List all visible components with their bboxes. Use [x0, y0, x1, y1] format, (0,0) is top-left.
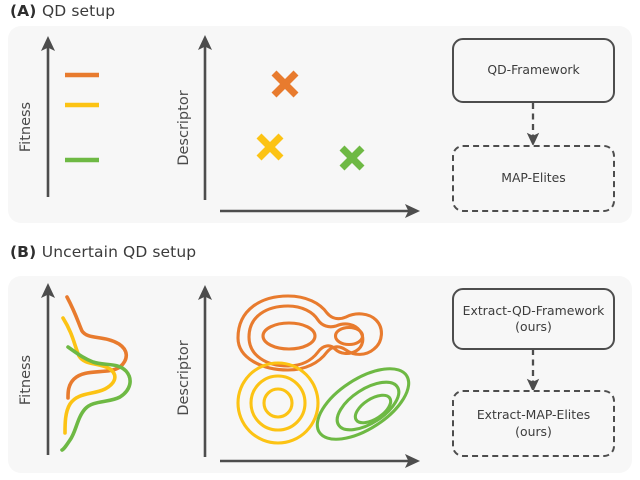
descriptor-contour-orange-b	[238, 296, 381, 370]
panel-a-descriptor-axes: Descriptor	[176, 43, 412, 211]
descriptor-axis-label-b: Descriptor	[176, 340, 192, 415]
fitness-axis-label-b: Fitness	[18, 355, 34, 405]
panel-b-fitness-distributions	[62, 297, 130, 450]
panel-b-fitness-axis: Fitness	[18, 291, 48, 455]
descriptor-point-green-a	[342, 148, 362, 168]
panel-b-title-text: Uncertain QD setup	[42, 243, 196, 261]
descriptor-point-orange-a	[274, 73, 296, 95]
figure-root: (A) QD setup Fitness Descriptor	[0, 0, 640, 480]
map-elites-box[interactable]: MAP-Elites	[452, 145, 615, 212]
descriptor-axis-label-a: Descriptor	[176, 90, 192, 165]
panel-b-tag: (B)	[10, 243, 42, 261]
descriptor-point-yellow-a	[259, 136, 281, 158]
extract-map-elites-box[interactable]: Extract-MAP-Elites (ours)	[452, 390, 615, 457]
extract-qd-framework-label: Extract-QD-Framework (ours)	[460, 303, 607, 336]
panel-b-descriptor-axes: Descriptor	[176, 293, 412, 461]
extract-qd-framework-box[interactable]: Extract-QD-Framework (ours)	[452, 288, 615, 350]
descriptor-contour-yellow-b	[238, 363, 318, 443]
fitness-axis-label-a: Fitness	[18, 102, 34, 152]
qd-framework-box[interactable]: QD-Framework	[452, 38, 615, 103]
panel-b-descriptor-contours	[238, 296, 420, 453]
descriptor-contour-green-b	[306, 355, 420, 454]
panel-b-title: (B) Uncertain QD setup	[10, 243, 196, 261]
panel-a-descriptor-points	[259, 73, 362, 168]
panel-a-fitness-marks	[65, 75, 99, 160]
map-elites-label: MAP-Elites	[501, 170, 566, 186]
qd-framework-label: QD-Framework	[487, 62, 579, 78]
fitness-distribution-green-b	[62, 347, 130, 450]
panel-a-fitness-axis: Fitness	[18, 44, 48, 197]
extract-map-elites-label: Extract-MAP-Elites (ours)	[460, 407, 607, 440]
